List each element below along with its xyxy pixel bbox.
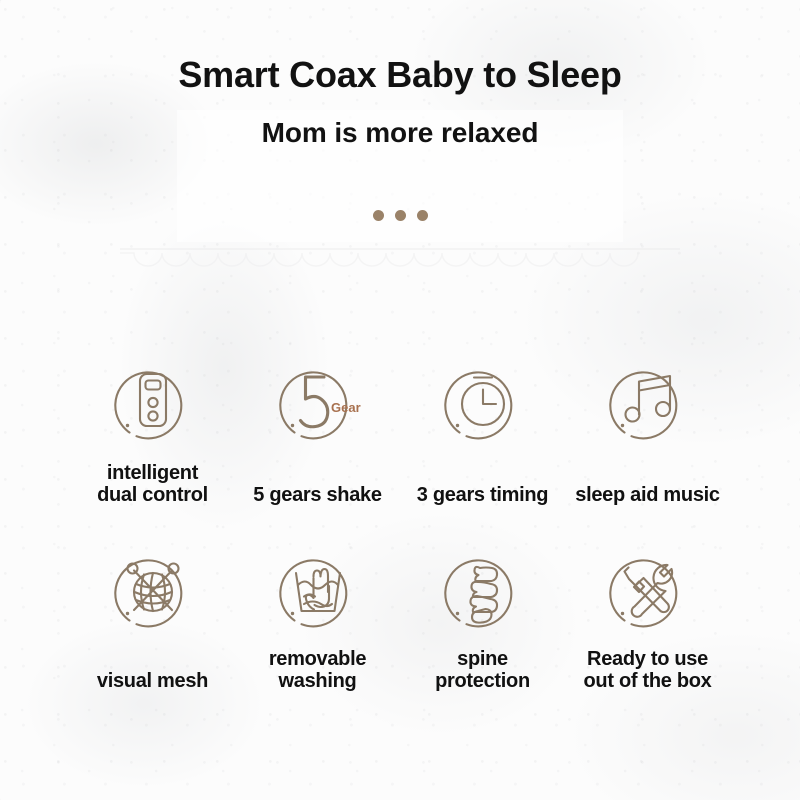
feature-grid: intelligent dual control Gear 5 bbox=[0, 352, 800, 693]
five-gear-icon: Gear bbox=[268, 352, 368, 452]
timer-clock-icon bbox=[433, 352, 533, 452]
divider-dot bbox=[417, 210, 428, 221]
page-subtitle: Mom is more relaxed bbox=[0, 95, 800, 150]
feature-label: intelligent dual control bbox=[97, 462, 208, 507]
divider-dot bbox=[373, 210, 384, 221]
feature-label: 3 gears timing bbox=[417, 484, 548, 506]
feature-removable-washing[interactable]: removable washing bbox=[235, 540, 400, 693]
wrench-screwdriver-icon bbox=[598, 540, 698, 640]
feature-row-1: intelligent dual control Gear 5 bbox=[0, 352, 800, 507]
gear-sublabel: Gear bbox=[331, 400, 361, 415]
feature-sleep-aid-music[interactable]: sleep aid music bbox=[565, 352, 730, 506]
feature-visual-mesh[interactable]: visual mesh bbox=[70, 540, 235, 692]
feature-3-gears-timing[interactable]: 3 gears timing bbox=[400, 352, 565, 506]
feature-label: removable washing bbox=[269, 648, 366, 693]
three-dot-divider bbox=[0, 210, 800, 221]
promo-page: Smart Coax Baby to Sleep Mom is more rel… bbox=[0, 0, 800, 800]
feature-intelligent-dual-control[interactable]: intelligent dual control bbox=[70, 352, 235, 507]
divider-dot bbox=[395, 210, 406, 221]
feature-label: Ready to use out of the box bbox=[584, 648, 712, 693]
lace-scallop-divider bbox=[120, 243, 680, 277]
feature-label: spine protection bbox=[435, 648, 530, 693]
music-note-icon bbox=[598, 352, 698, 452]
yarn-ball-knitting-icon bbox=[103, 540, 203, 640]
feature-ready-to-use[interactable]: Ready to use out of the box bbox=[565, 540, 730, 693]
hand-wash-basin-icon bbox=[268, 540, 368, 640]
feature-label: 5 gears shake bbox=[253, 484, 381, 506]
remote-control-icon bbox=[103, 352, 203, 452]
feature-label: sleep aid music bbox=[575, 484, 719, 506]
feature-row-2: visual mesh bbox=[0, 540, 800, 693]
feature-label: visual mesh bbox=[97, 670, 208, 692]
page-title: Smart Coax Baby to Sleep bbox=[0, 0, 800, 95]
headings-block: Smart Coax Baby to Sleep Mom is more rel… bbox=[0, 0, 800, 150]
feature-spine-protection[interactable]: spine protection bbox=[400, 540, 565, 693]
feature-5-gears-shake[interactable]: Gear 5 gears shake bbox=[235, 352, 400, 506]
spine-vertebrae-icon bbox=[433, 540, 533, 640]
